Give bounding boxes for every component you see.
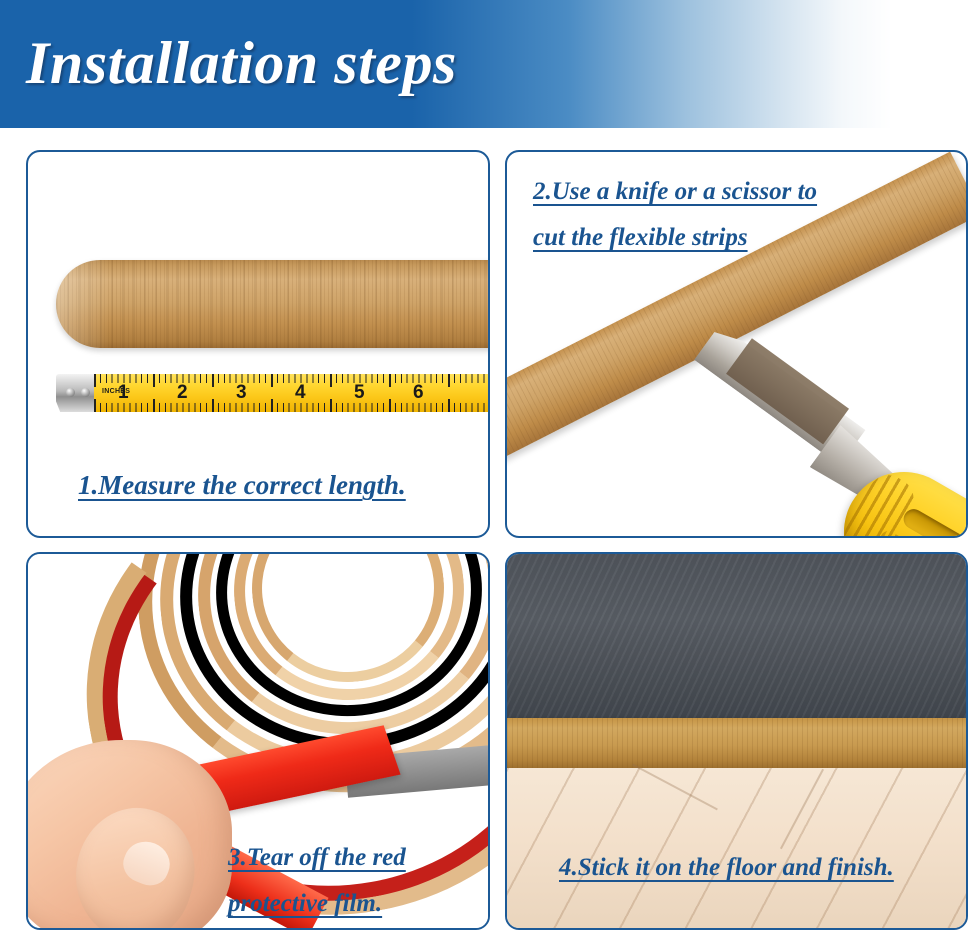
step-panel-3: 3.Tear off the red protective film. [26, 552, 490, 930]
wall-surface [507, 554, 966, 718]
knife-handle-slot [900, 505, 966, 536]
step-panel-2: 2.Use a knife or a scissor to cut the fl… [505, 150, 968, 538]
step-1-caption: 1.Measure the correct length. [78, 470, 406, 501]
tape-rivet-icon [66, 388, 75, 397]
tape-major-ticks-top [94, 374, 490, 387]
step-3-caption-line-1: 3.Tear off the red [228, 844, 406, 872]
floor-plank-seam [780, 769, 824, 849]
wood-floor-surface [507, 768, 966, 928]
installed-trim-strip [507, 718, 966, 768]
tape-major-ticks-bottom [94, 399, 490, 412]
header-banner: Installation steps [0, 0, 980, 128]
knife-cutting-scene [507, 152, 966, 536]
tape-number-5: 5 [354, 383, 365, 403]
tape-number-1: 1 [118, 383, 129, 403]
floor-plank-seam [632, 764, 718, 811]
page-title: Installation steps [26, 20, 457, 106]
step-2-caption-line-1: 2.Use a knife or a scissor to [533, 178, 817, 206]
step-4-caption: 4.Stick it on the floor and finish. [559, 854, 894, 882]
tape-number-6: 6 [413, 383, 424, 403]
tape-hook-icon [56, 374, 98, 412]
step-2-caption-line-2: cut the flexible strips [533, 224, 748, 252]
tape-number-2: 2 [177, 383, 188, 403]
tape-body: INCHES 1 2 3 4 5 6 [94, 374, 490, 412]
step-panel-1: INCHES 1 2 3 4 5 6 1.Measure the correct… [26, 150, 490, 538]
installation-steps-infographic: Installation steps INCHES 1 2 3 4 5 6 [0, 0, 980, 943]
tape-measure-image: INCHES 1 2 3 4 5 6 [56, 374, 490, 412]
step-panel-4: 4.Stick it on the floor and finish. [505, 552, 968, 930]
wood-trim-strip-image [56, 260, 490, 348]
tape-rivet-icon [81, 388, 90, 397]
step-3-caption-line-2: protective film. [228, 890, 382, 918]
tape-number-3: 3 [236, 383, 247, 403]
tape-number-4: 4 [295, 383, 306, 403]
